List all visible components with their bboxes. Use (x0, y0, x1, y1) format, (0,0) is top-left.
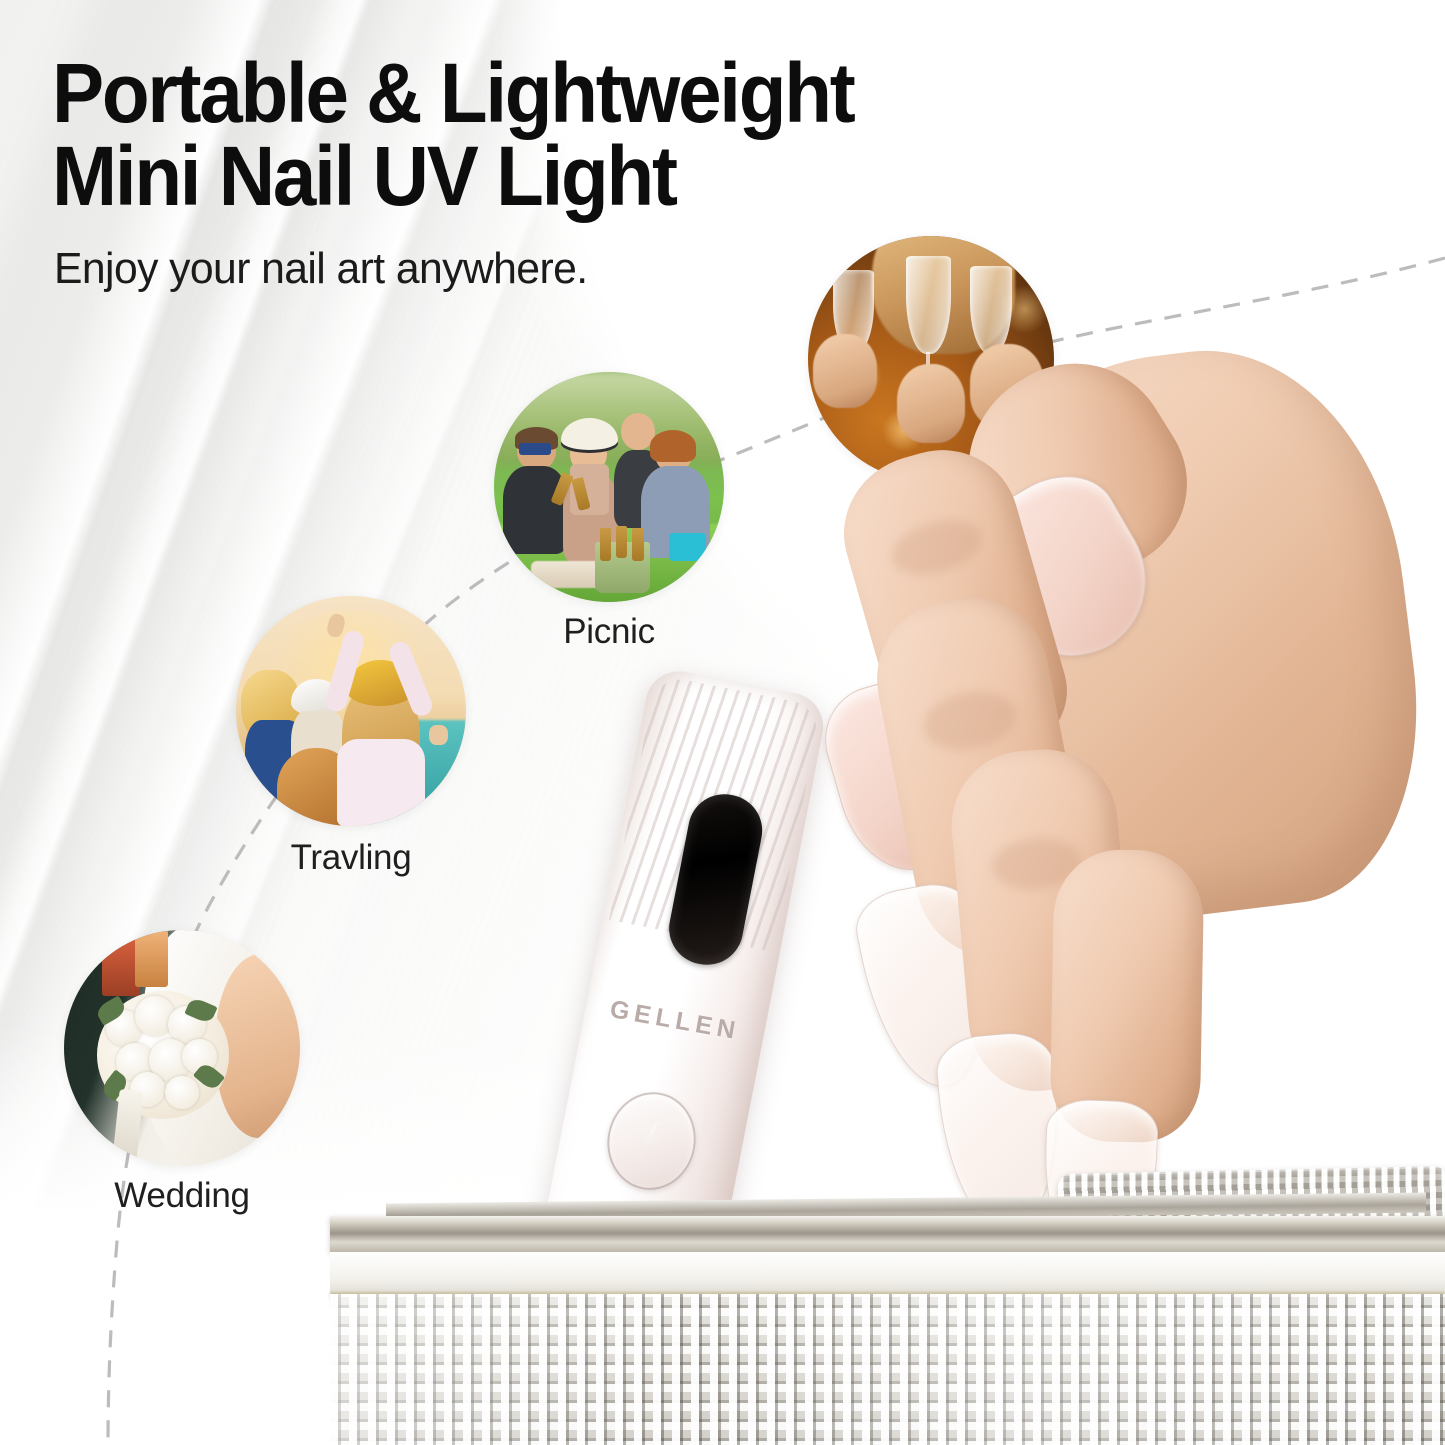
clutch-lip (330, 1252, 1445, 1294)
headline-line-1: Portable & Lightweight (52, 46, 854, 140)
scene-label-picnic: Picnic (563, 612, 655, 652)
headline-line-2: Mini Nail UV Light (52, 135, 982, 218)
subtitle: Enjoy your nail art anywhere. (54, 244, 588, 294)
scene-bubble-travling: Travling (236, 596, 466, 826)
clutch-sheen (330, 1294, 1445, 1445)
pinky-finger (1049, 849, 1204, 1144)
page-title: Portable & Lightweight Mini Nail UV Ligh… (52, 52, 982, 218)
scene-label-wedding: Wedding (114, 1176, 249, 1216)
hand-holding-device (660, 330, 1445, 1260)
rhinestone-clutch-bag (330, 1168, 1445, 1445)
bride-bouquet-scene-icon (64, 930, 300, 1166)
scene-bubble-wedding: Wedding (64, 930, 300, 1166)
clutch-clasp-bar (330, 1216, 1445, 1252)
product-marketing-image: Portable & Lightweight Mini Nail UV Ligh… (0, 0, 1445, 1445)
scene-label-travling: Travling (291, 838, 412, 878)
beach-sunset-friends-scene-icon (236, 596, 466, 826)
